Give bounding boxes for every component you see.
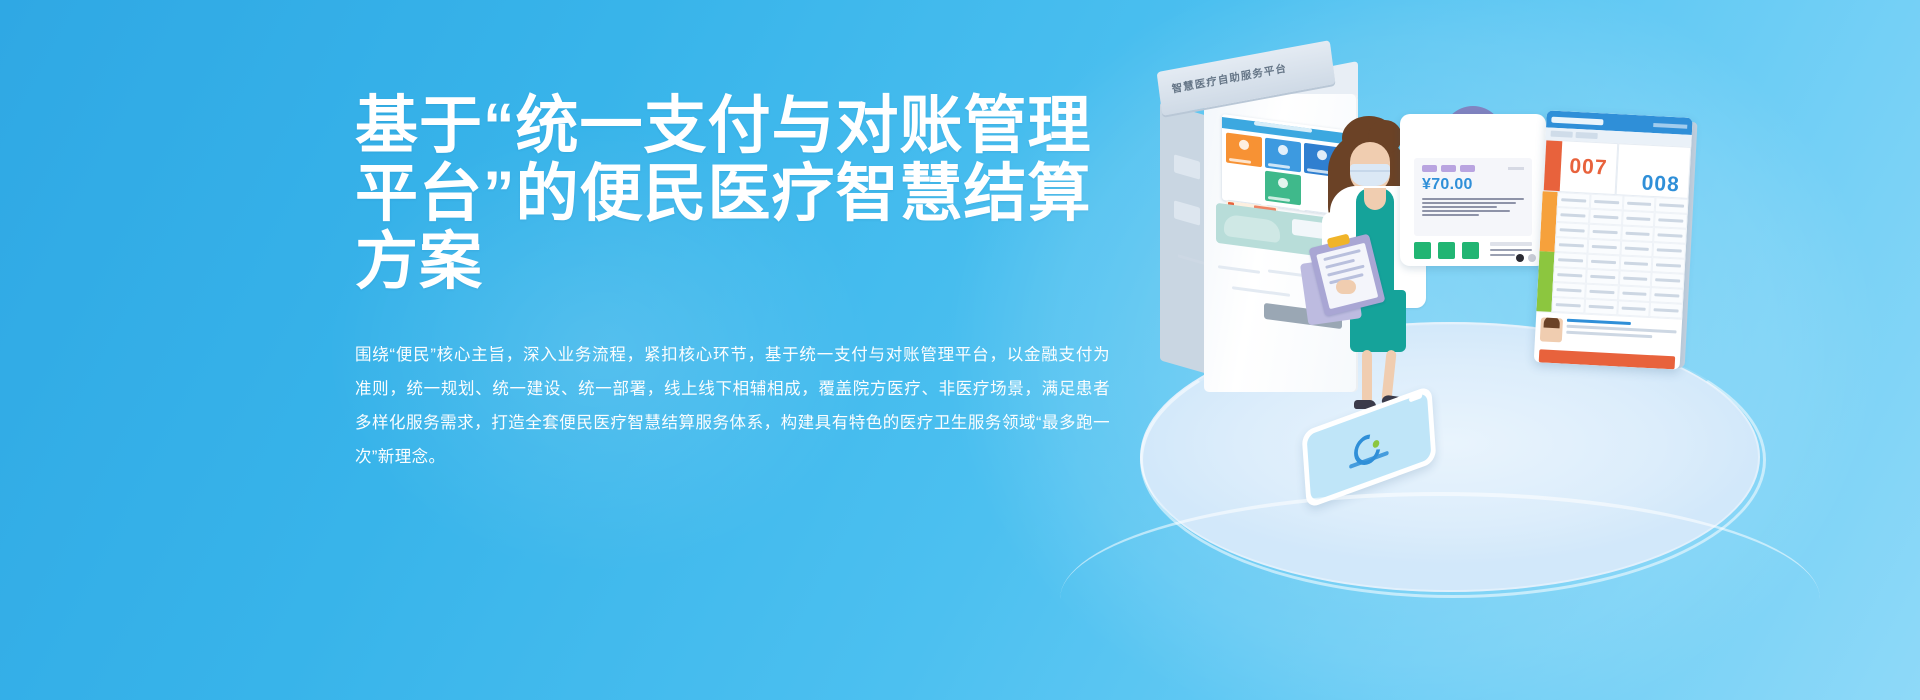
board-section-grid	[1551, 252, 1685, 319]
board-current-calls: 007 008	[1543, 139, 1692, 199]
health-cloud-logo-icon	[1347, 426, 1390, 468]
board-frame: 007 008	[1534, 110, 1693, 369]
banner-copy: 基于“统一支付与对账管理平台”的便民医疗智慧结算方案 围绕“便民”核心主旨，深入…	[355, 92, 1115, 474]
hero-illustration: 智慧医疗自助服务平台	[1100, 22, 1800, 642]
terminal-body: ¥70.00	[1400, 114, 1546, 266]
avatar	[1540, 317, 1563, 342]
doctor-face-mask	[1350, 164, 1390, 186]
board-current-cell: 007	[1543, 139, 1619, 195]
board-section-orange	[1540, 191, 1689, 259]
board-section-grid	[1555, 192, 1689, 259]
payment-terminal[interactable]: ¥70.00	[1400, 100, 1550, 270]
clipboard-paper	[1316, 243, 1378, 309]
terminal-keypad[interactable]	[1414, 242, 1532, 270]
terminal-receipt-lines	[1414, 194, 1532, 216]
terminal-screen-tags	[1414, 158, 1532, 172]
doctor-leg	[1362, 350, 1372, 404]
board-doctor-info	[1566, 319, 1677, 343]
page-title: 基于“统一支付与对账管理平台”的便民医疗智慧结算方案	[355, 92, 1100, 296]
terminal-key-green[interactable]	[1438, 242, 1455, 259]
terminal-key-green[interactable]	[1462, 242, 1479, 259]
terminal-key-green[interactable]	[1414, 242, 1431, 259]
ground-arc-highlight	[1060, 492, 1820, 700]
banner-description: 围绕“便民”核心主旨，深入业务流程，紧扣核心环节，基于统一支付与对账管理平台，以…	[355, 338, 1110, 474]
tile-registration[interactable]	[1226, 132, 1262, 167]
tile-payment[interactable]	[1265, 171, 1301, 206]
queue-display-board: 007 008	[1533, 110, 1692, 377]
terminal-screen: ¥70.00	[1414, 158, 1532, 236]
board-section-green	[1536, 251, 1685, 319]
queue-current-number: 007	[1560, 141, 1618, 194]
tile-patient-info[interactable]	[1265, 138, 1301, 173]
terminal-amount: ¥70.00	[1422, 176, 1532, 194]
queue-next-number: 008	[1633, 171, 1689, 198]
terminal-indicator-dots	[1516, 254, 1536, 262]
hero-banner: 基于“统一支付与对账管理平台”的便民医疗智慧结算方案 围绕“便民”核心主旨，深入…	[0, 0, 1920, 700]
board-next-cell: 008	[1616, 143, 1692, 199]
doctor-neckline	[1364, 188, 1386, 210]
doctor-hand-left	[1336, 280, 1356, 294]
